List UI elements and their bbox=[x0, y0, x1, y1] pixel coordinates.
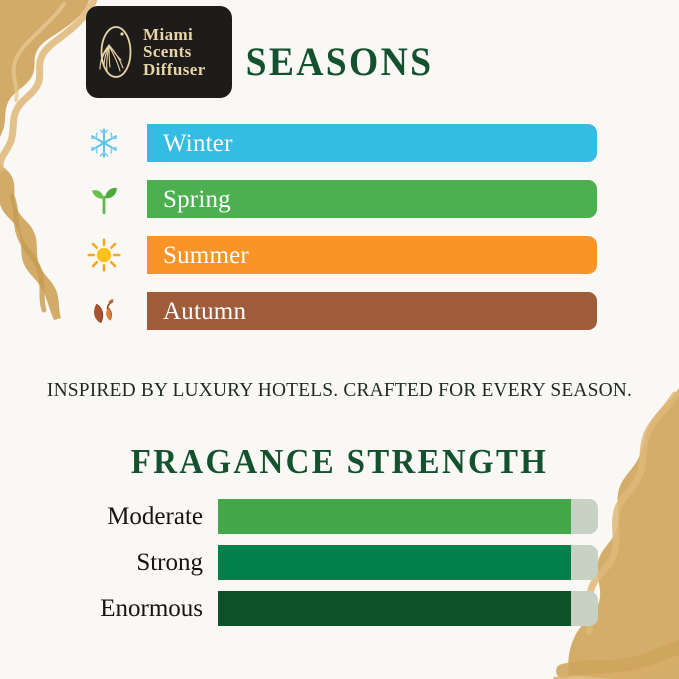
season-row-autumn: Autumn bbox=[0, 292, 679, 330]
season-label-spring: Spring bbox=[147, 187, 231, 212]
brand-wordmark: Miami Scents Diffuser bbox=[143, 26, 206, 78]
season-bar-winter: Winter bbox=[147, 124, 597, 162]
strength-track-moderate bbox=[218, 499, 598, 534]
strength-track-strong bbox=[218, 545, 598, 580]
strength-track-enormous bbox=[218, 591, 598, 626]
bird-feather-icon bbox=[96, 21, 136, 83]
logo-line-1: Miami bbox=[143, 26, 206, 43]
season-row-spring: Spring bbox=[0, 180, 679, 218]
logo-line-3: Diffuser bbox=[143, 61, 206, 78]
strength-fill-strong bbox=[218, 545, 571, 580]
strength-fill-enormous bbox=[218, 591, 571, 626]
season-row-winter: Winter bbox=[0, 124, 679, 162]
tagline-text: INSPIRED BY LUXURY HOTELS. CRAFTED FOR E… bbox=[10, 379, 669, 402]
season-label-winter: Winter bbox=[147, 131, 233, 156]
seasons-bar-list: Winter Spring bbox=[0, 124, 679, 348]
strength-bar-list: Moderate Strong Enormous bbox=[0, 498, 679, 636]
brand-logo-badge: Miami Scents Diffuser bbox=[86, 6, 232, 98]
season-label-summer: Summer bbox=[147, 243, 249, 268]
season-bar-autumn: Autumn bbox=[147, 292, 597, 330]
strength-fill-moderate bbox=[218, 499, 571, 534]
fallen-leaves-icon bbox=[83, 290, 125, 332]
strength-row-moderate: Moderate bbox=[0, 498, 679, 535]
strength-label-strong: Strong bbox=[0, 550, 203, 575]
season-row-summer: Summer bbox=[0, 236, 679, 274]
strength-label-moderate: Moderate bbox=[0, 504, 203, 529]
strength-row-enormous: Enormous bbox=[0, 590, 679, 627]
snowflake-icon bbox=[83, 122, 125, 164]
logo-line-2: Scents bbox=[143, 43, 206, 60]
season-bar-spring: Spring bbox=[147, 180, 597, 218]
season-bar-summer: Summer bbox=[147, 236, 597, 274]
infographic-canvas: Miami Scents Diffuser SEASONS bbox=[0, 0, 679, 679]
seedling-icon bbox=[83, 178, 125, 220]
season-label-autumn: Autumn bbox=[147, 299, 246, 324]
strength-section-title: FRAGANCE STRENGTH bbox=[20, 442, 658, 482]
sun-icon bbox=[83, 234, 125, 276]
strength-label-enormous: Enormous bbox=[0, 596, 203, 621]
strength-row-strong: Strong bbox=[0, 544, 679, 581]
